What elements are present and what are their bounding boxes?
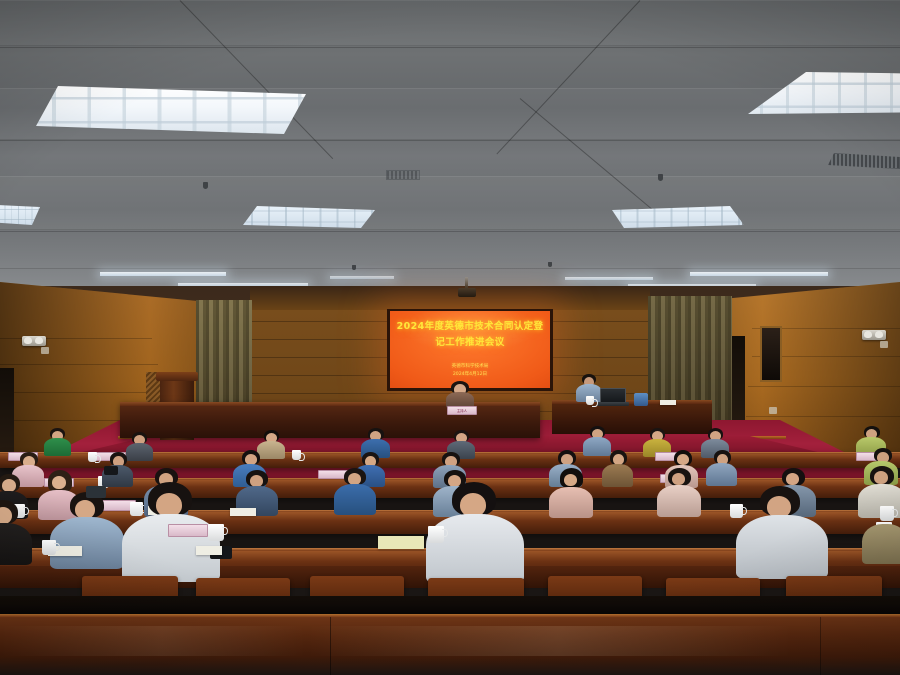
sprinkler [548, 262, 552, 267]
head-table [120, 402, 540, 438]
mug-icon [428, 526, 444, 543]
mug-icon [880, 506, 894, 521]
operator-table [552, 400, 712, 434]
document [660, 400, 676, 405]
mug-icon [208, 524, 224, 541]
control-room-window [760, 326, 782, 382]
document [378, 536, 424, 549]
projector-icon [458, 288, 476, 297]
wall-socket [769, 407, 777, 414]
mug-icon [292, 450, 301, 460]
ceiling-light-strip [100, 272, 226, 276]
left-doorway [0, 368, 14, 454]
smartphone-icon [104, 466, 118, 475]
laptop-base [597, 402, 629, 406]
screen-title-line1: 2024年度英德市技术合同认定登 [390, 319, 550, 335]
ceiling-light-panel [36, 86, 306, 134]
emergency-light-icon [862, 330, 886, 340]
ceiling-light-strip [565, 277, 653, 280]
desk-seam [330, 617, 331, 675]
smartphone-icon [86, 486, 106, 498]
conference-room-photo: 2024年度英德市技术合同认定登 记工作推进会议 英德市科学技术局 2024年4… [0, 0, 900, 675]
wall-socket [41, 347, 49, 354]
ceiling-light-strip [690, 272, 828, 276]
document [196, 546, 222, 555]
laptop-icon [600, 388, 626, 403]
desk-reflection [0, 626, 900, 656]
sprinkler [352, 265, 356, 270]
screen-title-line2: 记工作推进会议 [390, 335, 550, 351]
mug-icon [130, 502, 143, 516]
emergency-light-icon [22, 336, 46, 346]
ceiling [0, 0, 900, 300]
mug-icon [42, 540, 56, 555]
mug-icon [730, 504, 743, 518]
water-container [634, 393, 648, 406]
ceiling-light-strip [330, 276, 394, 279]
screen-subtitle-line1: 英德市科学技术局 [390, 363, 550, 371]
head-table-nameplate: 主持人 [447, 406, 477, 415]
desk-seam [820, 617, 821, 675]
sprinkler [203, 182, 208, 189]
air-vent [386, 170, 420, 180]
projection-screen: 2024年度英德市技术合同认定登 记工作推进会议 英德市科学技术局 2024年4… [390, 311, 550, 388]
screen-subtitle-line2: 2024年4月12日 [390, 371, 550, 379]
document [230, 508, 256, 516]
sprinkler [658, 174, 663, 181]
mug-icon [586, 396, 594, 405]
back-wall-header [250, 286, 650, 310]
air-vent [828, 153, 900, 169]
wall-socket [880, 341, 888, 348]
mug-icon [88, 452, 97, 462]
name-card [168, 524, 208, 537]
